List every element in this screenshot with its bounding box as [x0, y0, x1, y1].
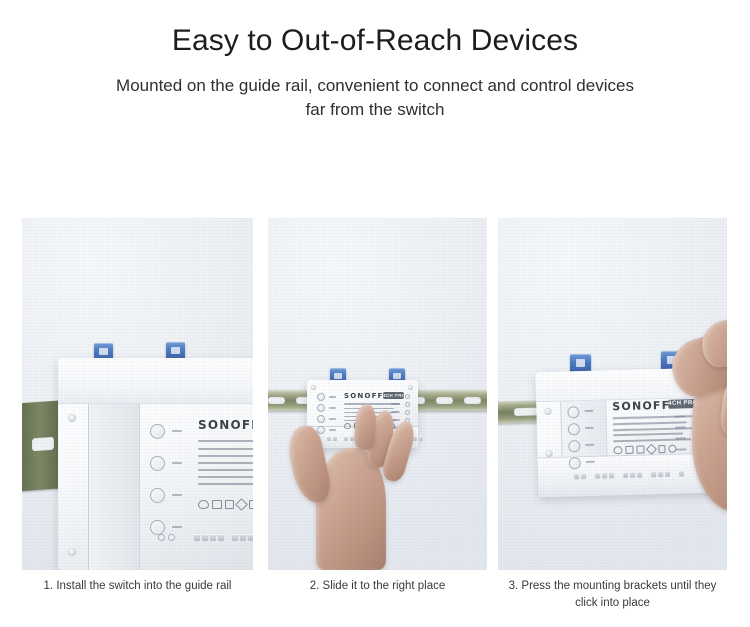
- device-spec-text: [198, 440, 253, 485]
- step-caption-3: 3. Press the mounting brackets until the…: [498, 578, 727, 612]
- page-title: Easy to Out-of-Reach Devices: [0, 22, 750, 60]
- hand-sliding-device: [292, 414, 426, 570]
- photo-press-brackets: SONOFF 4CH PRO: [498, 218, 727, 570]
- certification-marks: [198, 500, 253, 509]
- mounting-bracket: [166, 342, 185, 359]
- page-subtitle: Mounted on the guide rail, convenient to…: [110, 74, 640, 122]
- step-caption-2: 2. Slide it to the right place: [268, 578, 487, 612]
- step-captions: 1. Install the switch into the guide rai…: [0, 578, 750, 612]
- photo-slide-into-place: SONOFF 4CH PRO: [268, 218, 487, 570]
- page-header: Easy to Out-of-Reach Devices Mounted on …: [0, 0, 750, 122]
- terminal-block-row: [194, 534, 253, 541]
- status-led-column: [567, 406, 581, 469]
- indicator-dots: [158, 534, 175, 541]
- step-photo-1: SONOFF 4CH PRO: [22, 218, 253, 570]
- step-photo-3: SONOFF 4CH PRO: [498, 218, 727, 570]
- device-brand-label: SONOFF: [612, 399, 670, 414]
- channel-label-column: [172, 430, 182, 528]
- sonoff-device: SONOFF 4CH PRO: [58, 358, 253, 570]
- mounting-bracket: [570, 354, 591, 372]
- hand-pressing-bracket: [666, 316, 727, 516]
- step-photo-strip: SONOFF 4CH PRO: [0, 218, 750, 570]
- step-photo-2: SONOFF 4CH PRO: [268, 218, 487, 570]
- photo-install-on-rail: SONOFF 4CH PRO: [22, 218, 253, 570]
- device-brand-label: SONOFF: [344, 392, 384, 400]
- step-caption-1: 1. Install the switch into the guide rai…: [22, 578, 253, 612]
- status-led-column: [150, 424, 165, 535]
- channel-label-column: [584, 410, 594, 463]
- device-brand-label: SONOFF: [198, 418, 253, 432]
